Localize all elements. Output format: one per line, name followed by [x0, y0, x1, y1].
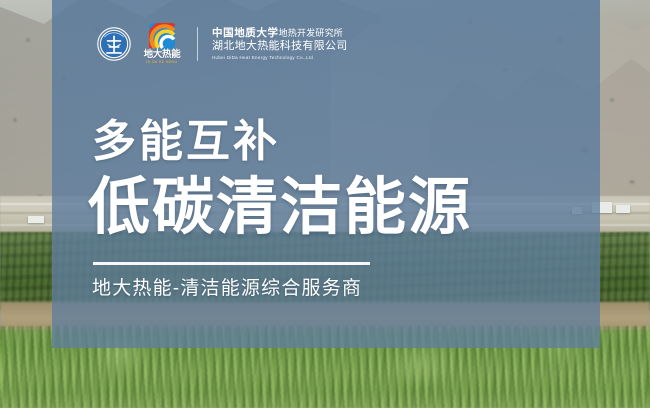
headline-main: 低碳清洁能源: [88, 177, 472, 239]
logo-company-name: 湖北地大热能科技有限公司: [212, 41, 348, 52]
university-seal-icon: [97, 27, 131, 61]
company-mark-cn: 地大热能: [144, 50, 181, 60]
headline-divider-rule: [93, 262, 370, 265]
promotional-banner: 地大热能 DI DA RE NENG 中国地质大学地热开发研究所 湖北地大热能科…: [0, 0, 650, 408]
logo-text-block: 中国地质大学地热开发研究所 湖北地大热能科技有限公司 Hubei DiDa He…: [212, 28, 348, 60]
logo-department-name: 地热开发研究所: [279, 28, 343, 38]
company-mark: 地大热能 DI DA RE NENG: [138, 23, 186, 65]
rainbow-square-icon: [149, 23, 175, 49]
logo-line-institute: 中国地质大学地热开发研究所: [212, 28, 348, 39]
logo-divider: [197, 27, 198, 61]
logo-lockup: 地大热能 DI DA RE NENG 中国地质大学地热开发研究所 湖北地大热能科…: [97, 23, 348, 65]
headline-top: 多能互补: [92, 120, 280, 164]
logo-company-name-en: Hubei DiDa Heat Energy Technology Co.,Lt…: [212, 56, 348, 60]
subtitle-tagline: 地大热能-清洁能源综合服务商: [92, 279, 362, 298]
logo-university-name: 中国地质大学: [212, 27, 279, 39]
company-mark-pinyin: DI DA RE NENG: [146, 61, 177, 65]
